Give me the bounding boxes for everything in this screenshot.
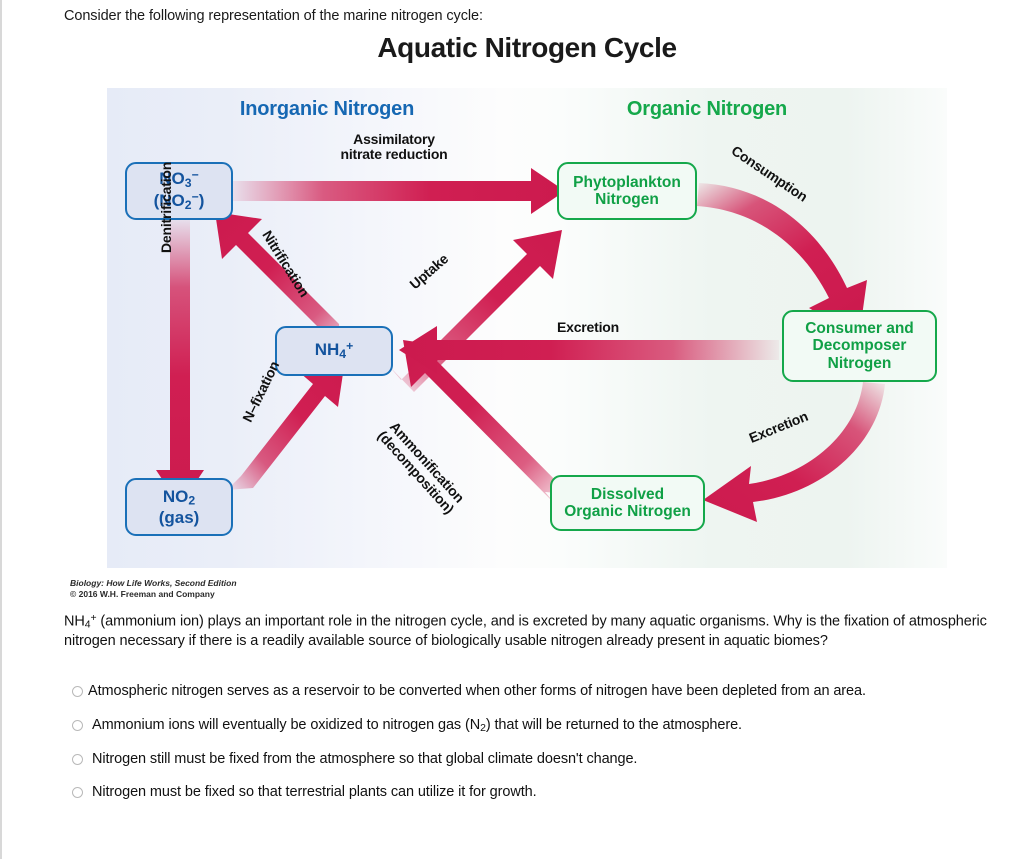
pool-box-ammonium: NH4+ [275, 326, 393, 376]
answer-option-b-text-after: ) that will be returned to the atmospher… [486, 717, 742, 733]
pool-box-consumer-decomposer-nitrogen: Consumer and Decomposer Nitrogen [782, 310, 937, 382]
answer-option-d-label[interactable]: Nitrogen must be fixed so that terrestri… [92, 783, 537, 803]
intro-prompt: Consider the following representation of… [64, 8, 483, 24]
credit-line-1: Biology: How Life Works, Second Edition [70, 578, 237, 589]
arrow-assimilatory-nitrate-reduction [229, 168, 565, 214]
pool-box-don-line1: Dissolved [591, 486, 664, 503]
nitrogen-cycle-diagram: Inorganic Nitrogen Organic Nitrogen [107, 88, 947, 568]
answer-option-d[interactable]: Nitrogen must be fixed so that terrestri… [72, 783, 1012, 803]
question-formula-prefix: NH [64, 613, 85, 629]
pool-box-consumer-line1: Consumer and [805, 320, 914, 337]
question-text: NH4+ (ammonium ion) plays an important r… [64, 612, 994, 651]
arrow-excretion-to-don [703, 382, 885, 522]
figure-credit: Biology: How Life Works, Second Edition … [70, 578, 237, 601]
label-assimilatory-nitrate-reduction: Assimilatory nitrate reduction [299, 132, 489, 163]
arrow-denitrification [156, 218, 204, 506]
answer-option-b-text-before: Ammonium ions will eventually be oxidize… [92, 717, 480, 733]
pool-box-consumer-line2: Decomposer [813, 337, 907, 354]
radio-button-a[interactable] [72, 686, 83, 697]
answer-option-c[interactable]: Nitrogen still must be fixed from the at… [72, 750, 1012, 770]
credit-line-2: © 2016 W.H. Freeman and Company [70, 589, 237, 600]
pool-box-phytoplankton-nitrogen: Phytoplankton Nitrogen [557, 162, 697, 220]
answer-option-a[interactable]: Atmospheric nitrogen serves as a reservo… [72, 682, 1012, 702]
pool-box-nitrogen-gas-line2: (gas) [159, 508, 200, 527]
answer-option-a-label[interactable]: Atmospheric nitrogen serves as a reservo… [88, 682, 866, 702]
pool-box-nitrate: NO3− (NO2−) [125, 162, 233, 220]
pool-box-don-line2: Organic Nitrogen [564, 503, 691, 520]
label-excretion-to-ammonium: Excretion [557, 320, 619, 335]
radio-button-c[interactable] [72, 754, 83, 765]
answer-options-list: Atmospheric nitrogen serves as a reservo… [72, 682, 1012, 817]
label-assimilatory-line2: nitrate reduction [299, 147, 489, 162]
pool-box-consumer-line3: Nitrogen [828, 355, 892, 372]
page-root: Consider the following representation of… [0, 0, 1024, 859]
answer-option-b[interactable]: Ammonium ions will eventually be oxidize… [72, 716, 1012, 736]
radio-button-b[interactable] [72, 720, 83, 731]
pool-box-nitrogen-gas-line1: NO2 [163, 487, 195, 508]
pool-box-phytoplankton-line1: Phytoplankton [573, 174, 681, 191]
label-assimilatory-line1: Assimilatory [299, 132, 489, 147]
question-body: (ammonium ion) plays an important role i… [64, 613, 987, 649]
answer-option-b-label[interactable]: Ammonium ions will eventually be oxidize… [92, 716, 742, 736]
pool-box-ammonium-line1: NH4+ [315, 340, 354, 362]
label-denitrification: Denitrification [159, 162, 174, 253]
pool-box-dissolved-organic-nitrogen: Dissolved Organic Nitrogen [550, 475, 705, 531]
figure-title: Aquatic Nitrogen Cycle [107, 32, 947, 64]
pool-box-phytoplankton-line2: Nitrogen [595, 191, 659, 208]
answer-option-c-label[interactable]: Nitrogen still must be fixed from the at… [92, 750, 637, 770]
pool-box-nitrogen-gas: NO2 (gas) [125, 478, 233, 536]
radio-button-d[interactable] [72, 787, 83, 798]
arrow-n-fixation [227, 360, 345, 490]
